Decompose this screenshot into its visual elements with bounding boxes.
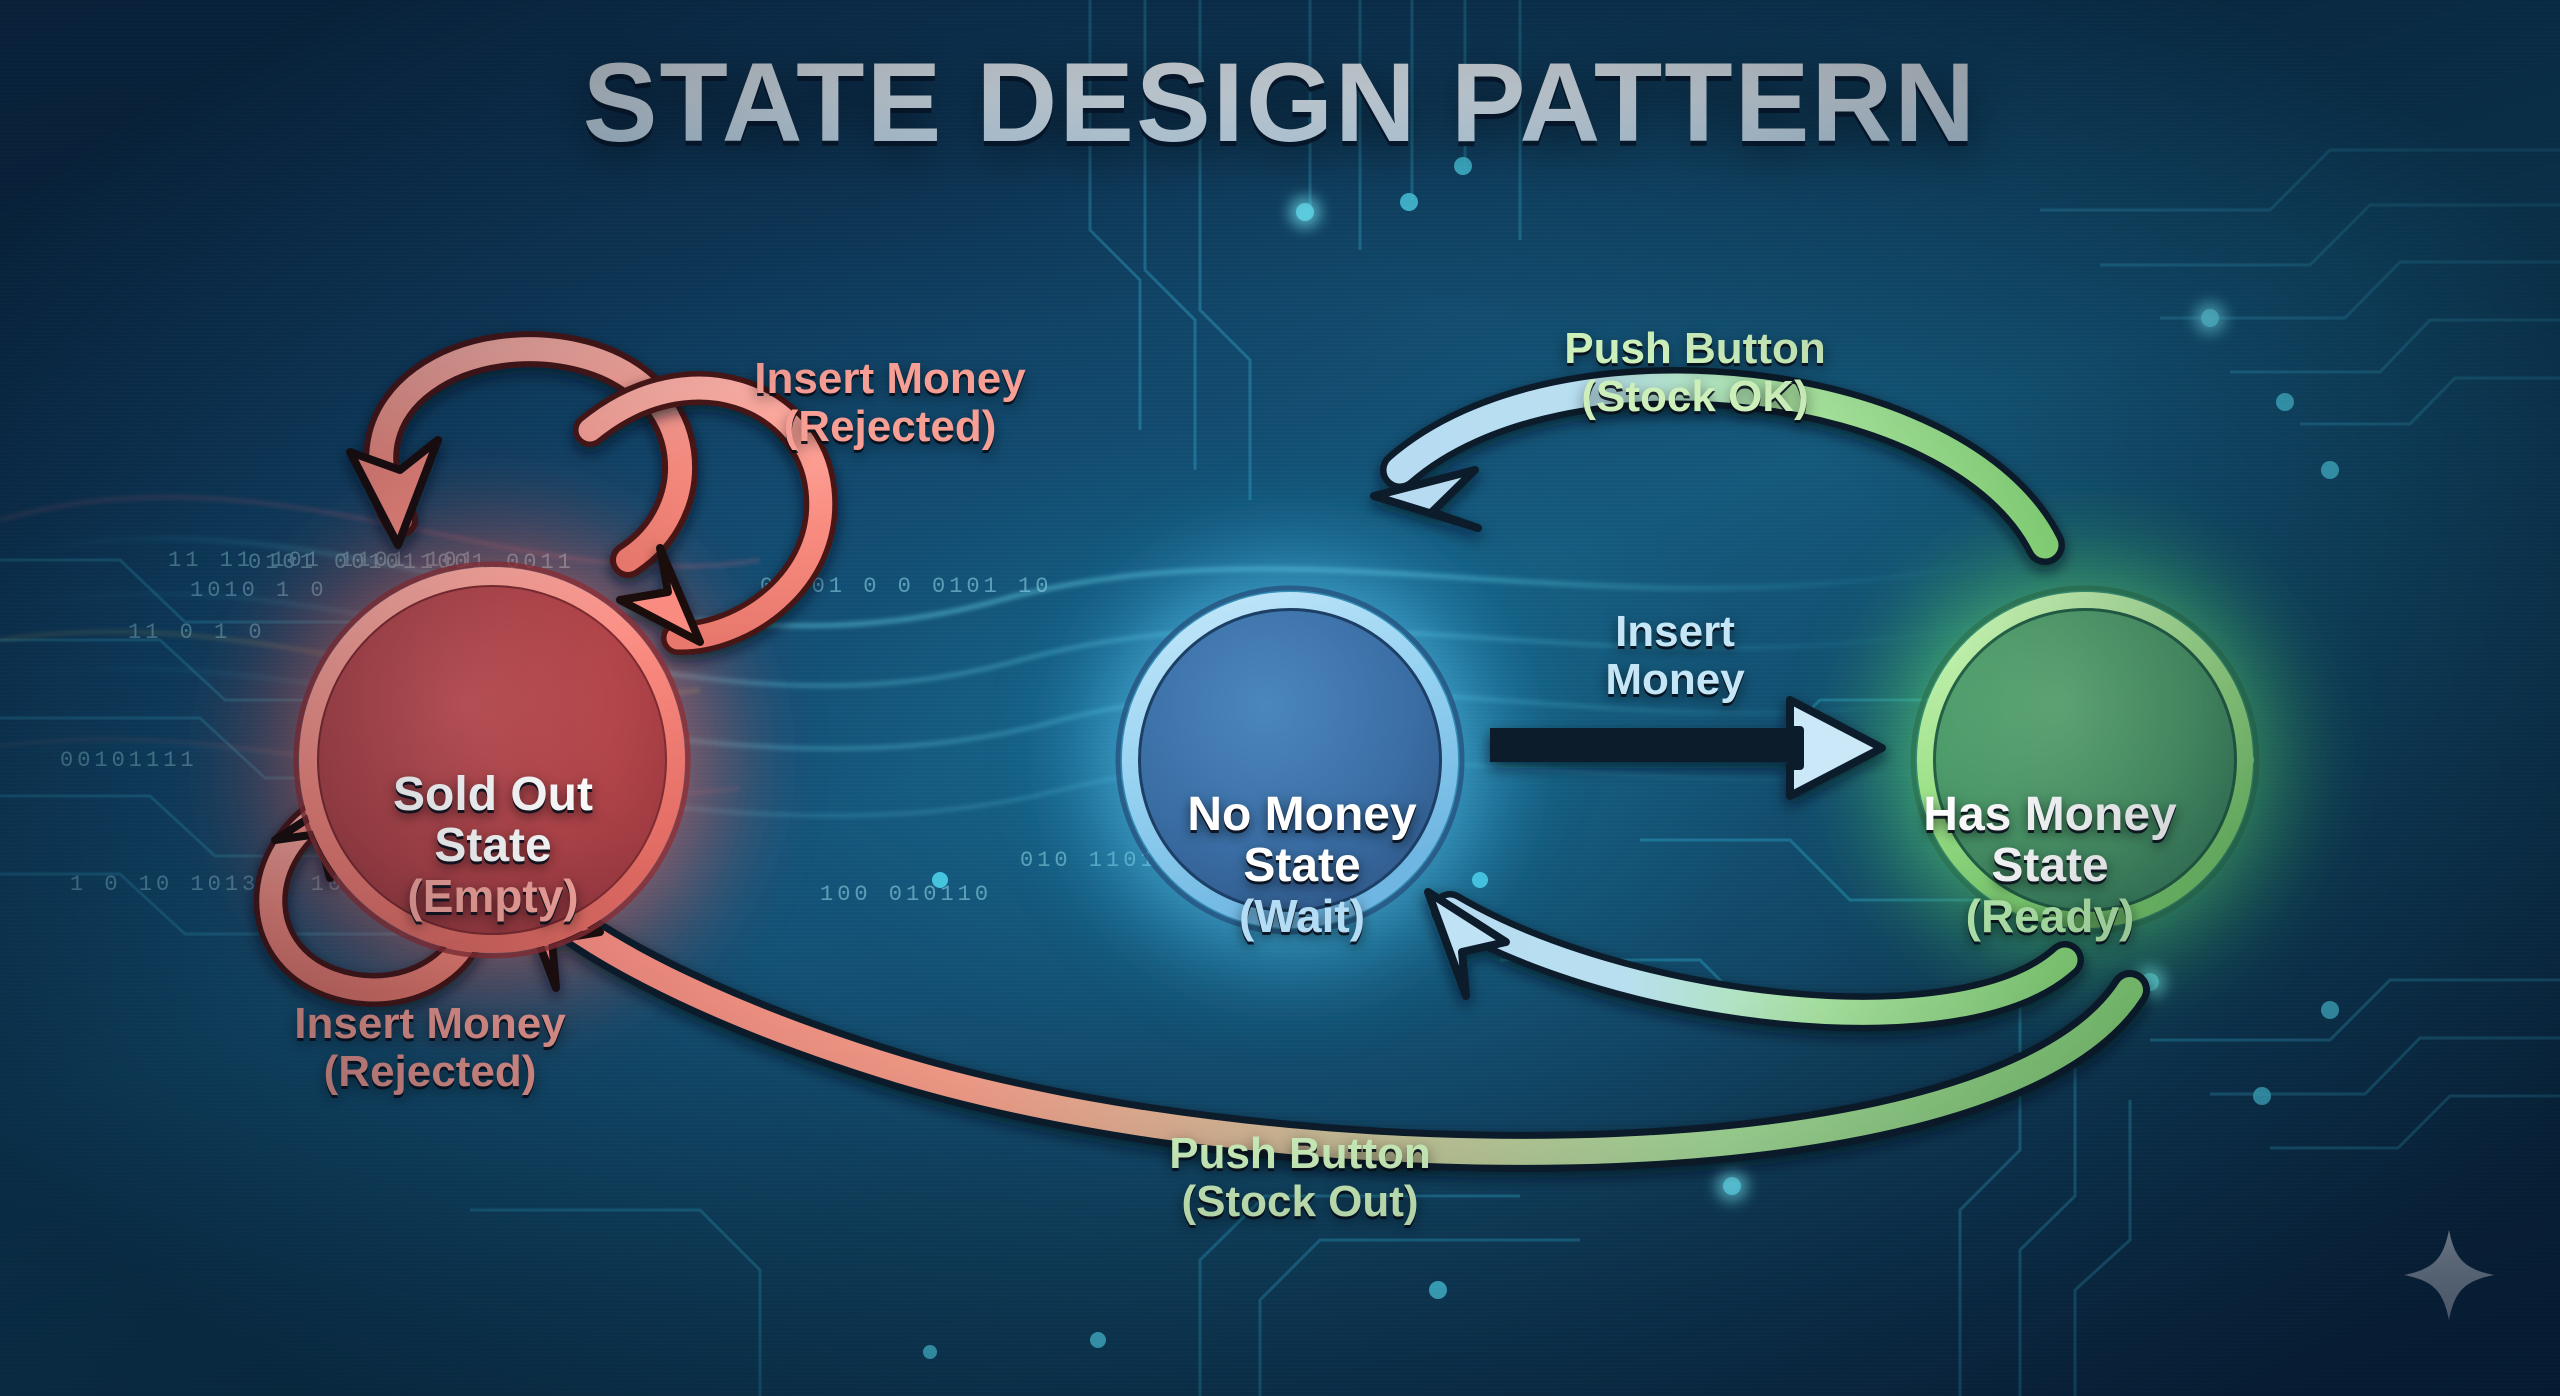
poster-canvas: 11 11 101 1101 101 1010 1 0 11 0 1 0 001…: [0, 0, 2560, 1396]
vignette-overlay: [0, 0, 2560, 1396]
